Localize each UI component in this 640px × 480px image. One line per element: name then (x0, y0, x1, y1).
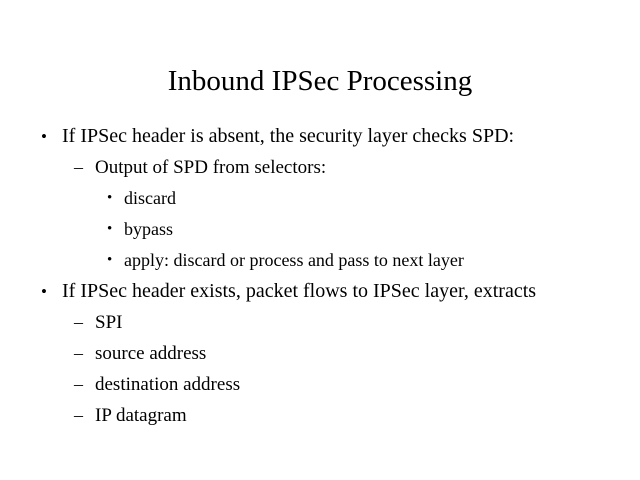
bullet-dash-icon: – (74, 369, 83, 400)
list-item: • If IPSec header exists, packet flows t… (0, 276, 640, 307)
bullet-dot-icon: • (107, 183, 112, 214)
bullet-dash-icon: – (74, 338, 83, 369)
slide-canvas: Inbound IPSec Processing • If IPSec head… (0, 0, 640, 480)
list-item: – SPI (0, 307, 640, 338)
list-item: • discard (0, 183, 640, 214)
list-item-label: bypass (124, 214, 173, 245)
list-item: – source address (0, 338, 640, 369)
list-item: • apply: discard or process and pass to … (0, 245, 640, 276)
bullet-dash-icon: – (74, 400, 83, 431)
list-item-label: apply: discard or process and pass to ne… (124, 245, 464, 276)
list-item-label: Output of SPD from selectors: (95, 152, 326, 183)
list-item-label: SPI (95, 307, 122, 338)
bullet-dash-icon: – (74, 152, 83, 183)
bullet-dot-icon: • (107, 214, 112, 245)
list-item-label: If IPSec header is absent, the security … (62, 121, 514, 152)
bullet-dot-icon: • (107, 245, 112, 276)
bullet-dash-icon: – (74, 307, 83, 338)
list-item: – Output of SPD from selectors: (0, 152, 640, 183)
list-item-label: IP datagram (95, 400, 187, 431)
slide-body-list: • If IPSec header is absent, the securit… (0, 121, 640, 431)
bullet-dot-icon: • (41, 276, 47, 307)
list-item-label: discard (124, 183, 176, 214)
list-item-label: source address (95, 338, 206, 369)
bullet-dot-icon: • (41, 121, 47, 152)
list-item: – IP datagram (0, 400, 640, 431)
list-item: – destination address (0, 369, 640, 400)
list-item: • If IPSec header is absent, the securit… (0, 121, 640, 152)
page-title: Inbound IPSec Processing (0, 64, 640, 98)
list-item: • bypass (0, 214, 640, 245)
list-item-label: If IPSec header exists, packet flows to … (62, 276, 536, 307)
list-item-label: destination address (95, 369, 240, 400)
